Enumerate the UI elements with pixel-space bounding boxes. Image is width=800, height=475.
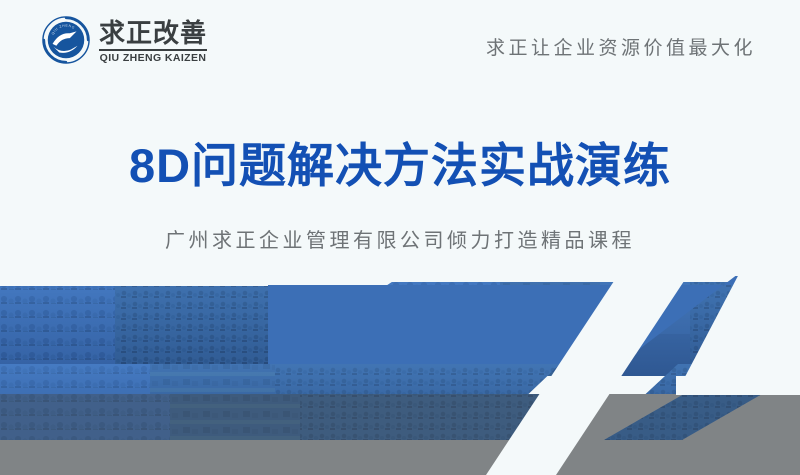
brand-logo[interactable]: QIU ZHENG 求正改善 QIU ZHENG KAIZEN bbox=[42, 16, 207, 64]
right-white-gap-2 bbox=[676, 376, 800, 394]
photo-overlay-on-gray bbox=[0, 386, 600, 446]
brand-divider bbox=[99, 49, 207, 51]
brand-wordmark: 求正改善 QIU ZHENG KAIZEN bbox=[99, 17, 207, 64]
qiuzheng-circle-emblem-icon: QIU ZHENG bbox=[42, 16, 90, 64]
poster-canvas: QIU ZHENG 求正改善 QIU ZHENG KAIZEN 求正让企业资源价… bbox=[0, 0, 800, 475]
top-left-white-notch bbox=[0, 276, 280, 285]
page-title: 8D问题解决方法实战演练 bbox=[0, 140, 800, 192]
collage-graphic bbox=[0, 276, 800, 475]
photo-group-mid-left bbox=[0, 276, 280, 376]
photo-collage bbox=[0, 276, 800, 475]
header-slogan: 求正让企业资源价值最大化 bbox=[486, 33, 756, 60]
brand-name-cn: 求正改善 bbox=[99, 19, 207, 47]
page-subtitle: 广州求正企业管理有限公司倾力打造精品课程 bbox=[0, 224, 800, 253]
brand-name-en: QIU ZHENG KAIZEN bbox=[99, 53, 207, 64]
